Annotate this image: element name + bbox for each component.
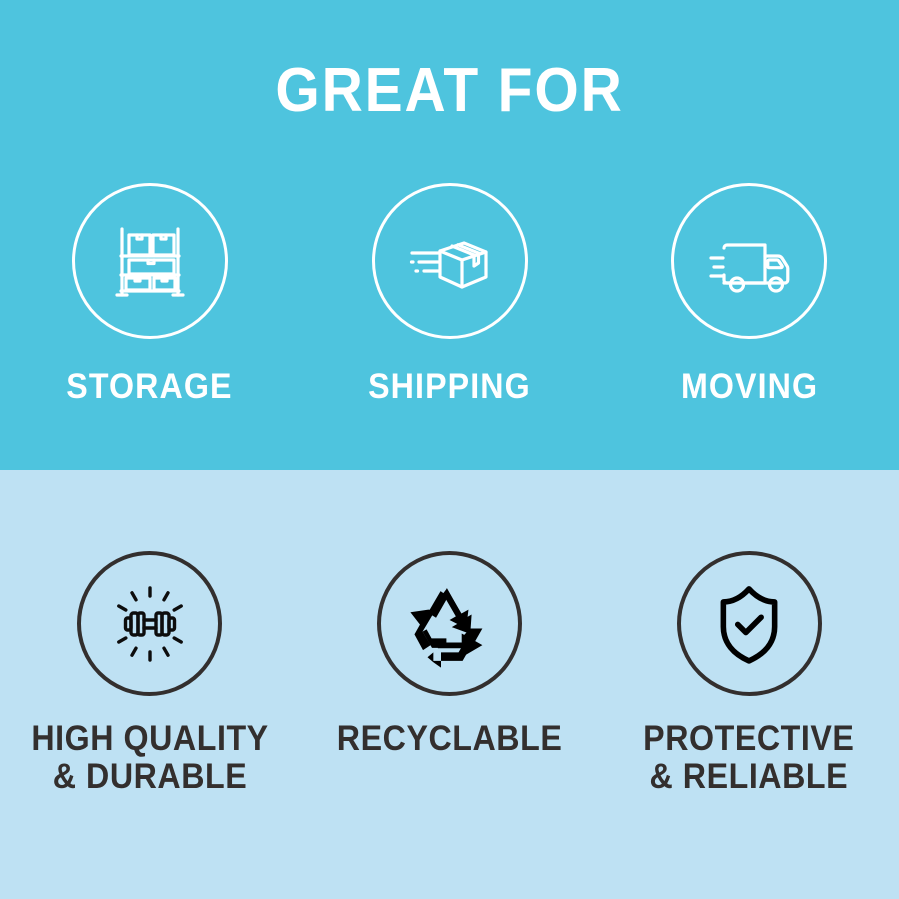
great-for-infographic: GREAT FOR <box>0 0 899 899</box>
recycle-icon <box>405 579 495 669</box>
shipping-box-icon <box>402 215 498 307</box>
storage-badge <box>72 183 228 339</box>
feature-recyclable: RECYCLABLE <box>300 551 600 796</box>
top-section: GREAT FOR <box>0 0 899 470</box>
feature-label: RECYCLABLE <box>337 720 563 758</box>
feature-moving: MOVING <box>599 183 899 406</box>
protective-badge <box>677 551 822 696</box>
feature-label: STORAGE <box>67 367 233 406</box>
shield-check-icon <box>704 579 794 669</box>
moving-badge <box>671 183 827 339</box>
shipping-badge <box>372 183 528 339</box>
high-quality-badge <box>77 551 222 696</box>
recyclable-badge <box>377 551 522 696</box>
top-feature-row: STORAGE <box>0 183 899 406</box>
feature-label: PROTECTIVE & RELIABLE <box>644 720 855 796</box>
feature-high-quality: HIGH QUALITY & DURABLE <box>0 551 300 796</box>
dumbbell-strength-icon <box>100 574 200 674</box>
bottom-feature-row: HIGH QUALITY & DURABLE <box>0 551 899 796</box>
feature-label: MOVING <box>681 367 818 406</box>
delivery-truck-icon <box>699 215 799 307</box>
feature-protective: PROTECTIVE & RELIABLE <box>599 551 899 796</box>
feature-shipping: SHIPPING <box>300 183 600 406</box>
feature-label: HIGH QUALITY & DURABLE <box>31 720 268 796</box>
warehouse-shelf-icon <box>104 215 196 307</box>
feature-label: SHIPPING <box>368 367 531 406</box>
page-title: GREAT FOR <box>36 57 863 125</box>
feature-storage: STORAGE <box>0 183 300 406</box>
